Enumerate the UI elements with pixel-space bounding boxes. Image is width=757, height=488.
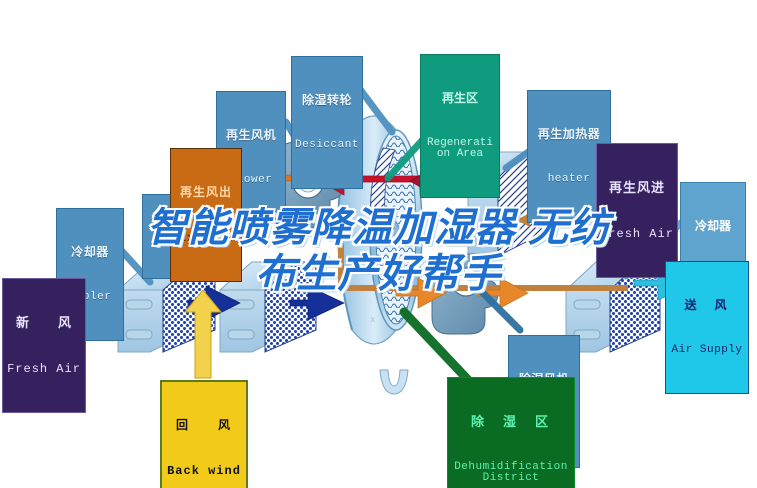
- page-title-line-2: 布生产好帮手: [0, 251, 757, 297]
- svg-text:x: x: [370, 315, 376, 325]
- label-air-supply-en: Air Supply: [666, 345, 748, 357]
- label-fresh-air-in: 新 风 Fresh Air: [2, 278, 86, 413]
- label-back-wind-en: Back wind: [162, 465, 246, 478]
- label-regeneration-area-en: Regenerati on Area: [421, 138, 499, 161]
- label-back-wind: 回 风 Back wind: [160, 380, 248, 488]
- label-back-wind-cn: 回 风: [162, 419, 246, 432]
- label-dehumidification-area-en: Dehumidification District: [448, 462, 574, 485]
- label-regeneration-area-cn: 再生区: [421, 92, 499, 105]
- label-dehumidification-area-cn: 除 湿 区: [448, 415, 574, 429]
- label-regen-heater-cn: 再生加热器: [528, 128, 610, 141]
- dehumidifier-diagram: x: [0, 0, 757, 488]
- label-fresh-air-in-en: Fresh Air: [3, 363, 85, 376]
- label-regeneration-area: 再生区 Regenerati on Area: [420, 54, 500, 198]
- label-regen-air-in-cn: 再生风进: [597, 181, 677, 195]
- page-title-line-1: 智能喷雾降温加湿器 无纺: [0, 205, 757, 251]
- page-title: 智能喷雾降温加湿器 无纺 布生产好帮手: [0, 205, 757, 297]
- label-desiccant-rotor: 除湿转轮 Desiccant: [291, 56, 363, 189]
- label-desiccant-rotor-en: Desiccant: [292, 140, 362, 152]
- label-desiccant-rotor-cn: 除湿转轮: [292, 94, 362, 107]
- label-fresh-air-in-cn: 新 风: [3, 316, 85, 330]
- label-regen-blower-cn: 再生风机: [217, 129, 285, 142]
- label-dehumidification-area: 除 湿 区 Dehumidification District: [447, 377, 575, 488]
- label-regen-air-out-cn: 再生风出: [171, 186, 241, 199]
- label-air-supply-cn: 送 风: [666, 299, 748, 312]
